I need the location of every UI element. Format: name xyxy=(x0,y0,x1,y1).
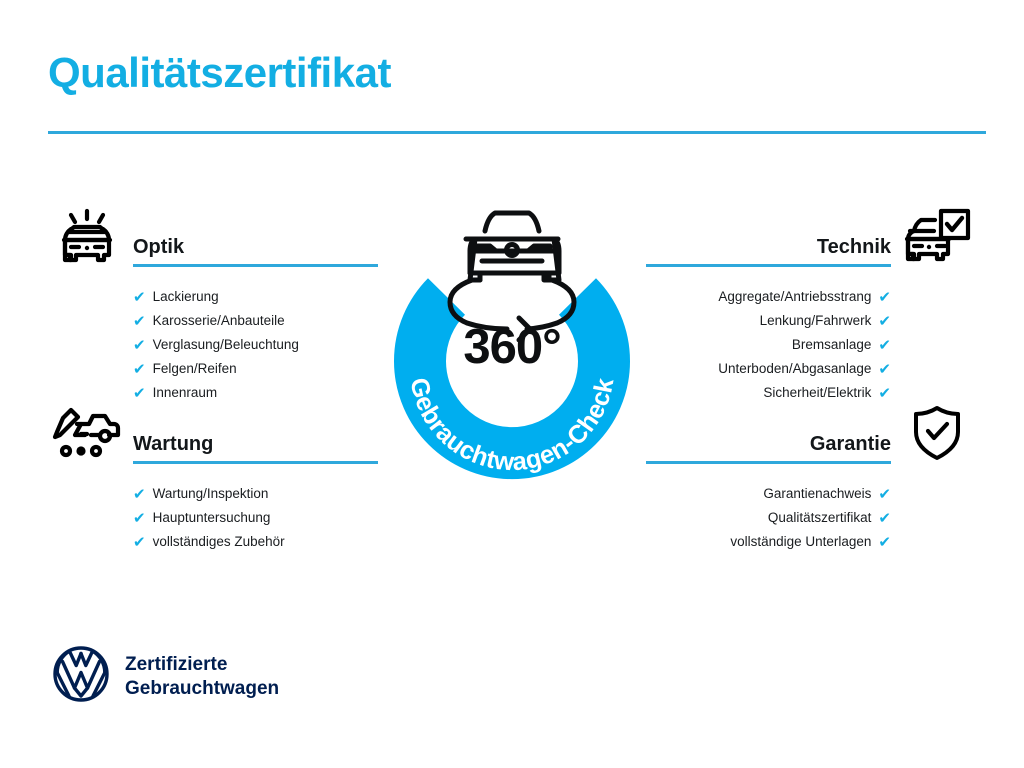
list-item: Qualitätszertifikat✔ xyxy=(636,506,976,530)
vw-footer-line1: Zertifizierte xyxy=(125,654,227,675)
check-icon: ✔ xyxy=(878,487,891,502)
list-item-label: Karosserie/Anbauteile xyxy=(153,314,285,328)
section-garantie-header: Garantie xyxy=(636,402,976,468)
check-icon: ✔ xyxy=(133,290,146,305)
section-technik-header: Technik xyxy=(636,205,976,271)
check-icon: ✔ xyxy=(878,290,891,305)
list-item: ✔vollständiges Zubehör xyxy=(48,530,388,554)
list-item-label: Hauptuntersuchung xyxy=(153,511,271,525)
list-item: ✔Verglasung/Beleuchtung xyxy=(48,333,388,357)
list-item: Bremsanlage✔ xyxy=(636,333,976,357)
section-garantie-title: Garantie xyxy=(810,434,891,454)
section-optik: Optik ✔Lackierung ✔Karosserie/Anbauteile… xyxy=(48,205,388,405)
check-icon: ✔ xyxy=(878,386,891,401)
list-item: Unterboden/Abgasanlage✔ xyxy=(636,357,976,381)
qualitaetszertifikat-page: Qualitätszertifikat xyxy=(0,0,1024,768)
list-item-label: Sicherheit/Elektrik xyxy=(763,386,871,400)
list-item: ✔Karosserie/Anbauteile xyxy=(48,309,388,333)
rotation-arrow-icon xyxy=(450,280,574,340)
check-icon: ✔ xyxy=(133,386,146,401)
check-icon: ✔ xyxy=(133,487,146,502)
check-icon: ✔ xyxy=(133,338,146,353)
list-item-label: vollständiges Zubehör xyxy=(153,535,285,549)
section-technik-list: Aggregate/Antriebsstrang✔ Lenkung/Fahrwe… xyxy=(636,285,976,405)
page-title: Qualitätszertifikat xyxy=(48,50,391,96)
check-icon: ✔ xyxy=(878,511,891,526)
section-optik-title: Optik xyxy=(133,237,184,257)
section-technik-title: Technik xyxy=(817,237,891,257)
list-item: ✔Wartung/Inspektion xyxy=(48,482,388,506)
list-item-label: Unterboden/Abgasanlage xyxy=(718,362,871,376)
check-icon: ✔ xyxy=(133,511,146,526)
list-item-label: vollständige Unterlagen xyxy=(730,535,871,549)
section-wartung: Wartung ✔Wartung/Inspektion ✔Hauptunters… xyxy=(48,402,388,554)
badge-svg: Gebrauchtwagen-Check xyxy=(376,196,648,496)
check-icon: ✔ xyxy=(878,535,891,550)
check-icon: ✔ xyxy=(878,314,891,329)
car-service-record-icon xyxy=(48,402,126,464)
check-icon: ✔ xyxy=(878,338,891,353)
list-item-label: Innenraum xyxy=(153,386,218,400)
section-garantie: Garantie Garantienachweis✔ Qualitätszert… xyxy=(636,402,976,554)
list-item-label: Lackierung xyxy=(153,290,219,304)
list-item-label: Garantienachweis xyxy=(763,487,871,501)
volkswagen-logo xyxy=(52,645,110,708)
list-item: ✔Lackierung xyxy=(48,285,388,309)
section-wartung-divider xyxy=(133,461,378,464)
check-icon: ✔ xyxy=(133,535,146,550)
vw-footer-text: Zertifizierte Gebrauchtwagen xyxy=(125,653,279,699)
shield-check-icon xyxy=(898,402,976,464)
list-item-label: Wartung/Inspektion xyxy=(153,487,269,501)
list-item-label: Aggregate/Antriebsstrang xyxy=(718,290,871,304)
section-wartung-title: Wartung xyxy=(133,434,213,454)
list-item: Lenkung/Fahrwerk✔ xyxy=(636,309,976,333)
vw-footer: Zertifizierte Gebrauchtwagen xyxy=(52,645,279,708)
check-icon: ✔ xyxy=(133,362,146,377)
section-technik: Technik Aggregate/Antriebsstrang✔ Lenkun… xyxy=(636,205,976,405)
section-garantie-divider xyxy=(646,461,891,464)
check-icon: ✔ xyxy=(133,314,146,329)
car-rotate-icon xyxy=(466,213,559,280)
list-item: Aggregate/Antriebsstrang✔ xyxy=(636,285,976,309)
list-item: Garantienachweis✔ xyxy=(636,482,976,506)
title-divider xyxy=(48,131,986,134)
badge-360-gebrauchtwagen-check: Gebrauchtwagen-Check xyxy=(376,196,648,496)
list-item-label: Felgen/Reifen xyxy=(153,362,237,376)
section-optik-divider xyxy=(133,264,378,267)
vw-footer-line2: Gebrauchtwagen xyxy=(125,678,279,699)
car-shine-icon xyxy=(48,205,126,267)
list-item-label: Verglasung/Beleuchtung xyxy=(153,338,299,352)
list-item-label: Bremsanlage xyxy=(792,338,872,352)
list-item-label: Qualitätszertifikat xyxy=(768,511,872,525)
list-item: vollständige Unterlagen✔ xyxy=(636,530,976,554)
section-wartung-list: ✔Wartung/Inspektion ✔Hauptuntersuchung ✔… xyxy=(48,482,388,554)
car-checkbox-icon xyxy=(898,205,976,267)
section-garantie-list: Garantienachweis✔ Qualitätszertifikat✔ v… xyxy=(636,482,976,554)
list-item: ✔Hauptuntersuchung xyxy=(48,506,388,530)
list-item: ✔Felgen/Reifen xyxy=(48,357,388,381)
section-wartung-header: Wartung xyxy=(48,402,388,468)
list-item-label: Lenkung/Fahrwerk xyxy=(760,314,872,328)
section-optik-list: ✔Lackierung ✔Karosserie/Anbauteile ✔Verg… xyxy=(48,285,388,405)
check-icon: ✔ xyxy=(878,362,891,377)
section-technik-divider xyxy=(646,264,891,267)
section-optik-header: Optik xyxy=(48,205,388,271)
